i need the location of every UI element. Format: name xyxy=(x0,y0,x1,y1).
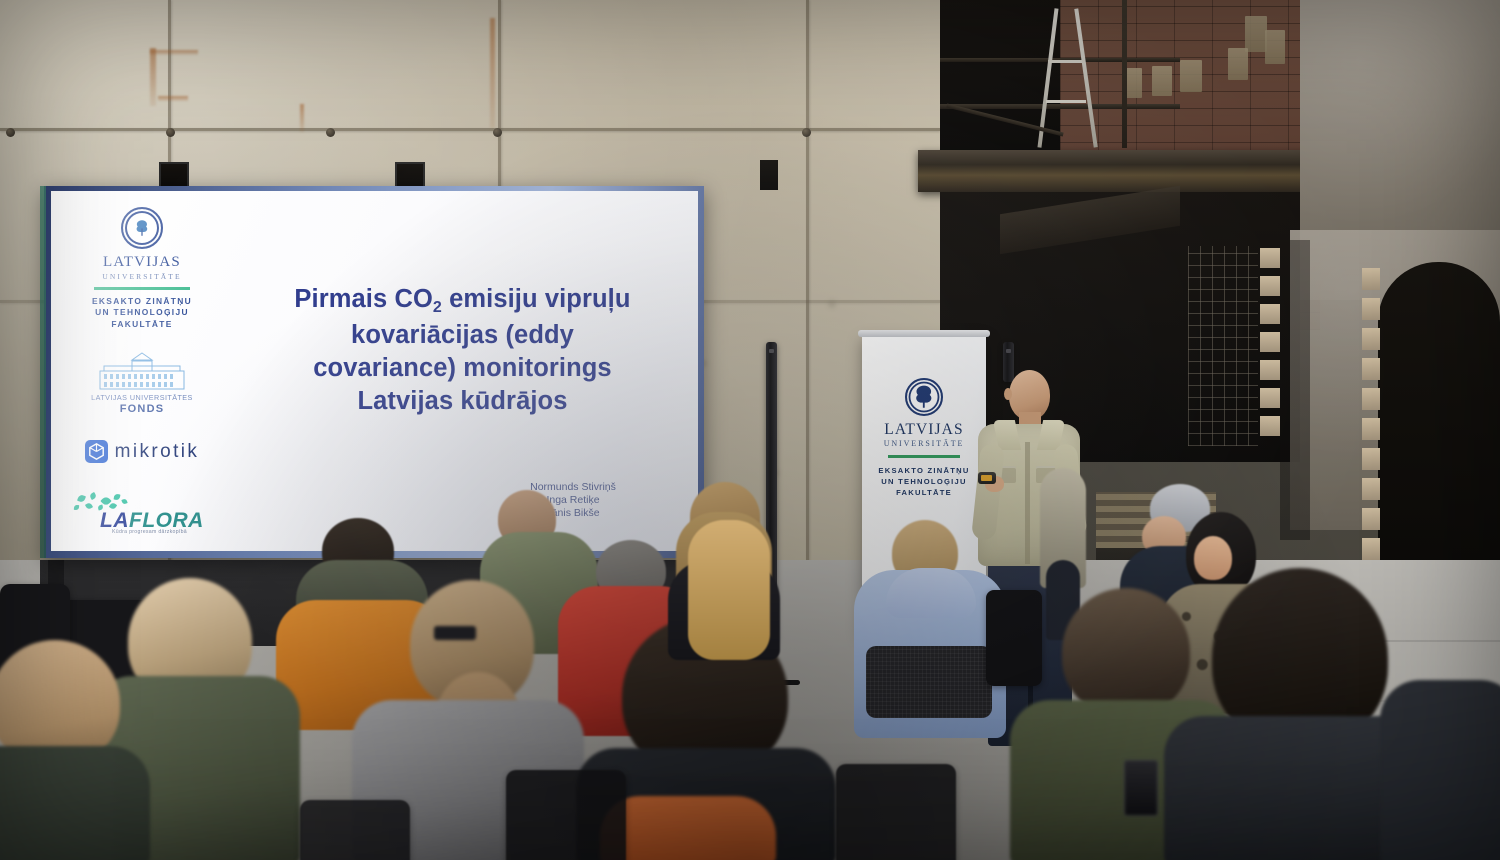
attendee-olive-phone-head xyxy=(1062,588,1190,716)
wall-seam xyxy=(0,128,940,131)
slide-title-column: Pirmais CO2 emisiju vipruļu kovariācijas… xyxy=(233,191,698,551)
banner-faculty-line-2: UN TEHNOLOĢIJU xyxy=(881,476,966,487)
scaffold-post xyxy=(1122,0,1127,148)
leaf-icon xyxy=(77,494,86,503)
quoin-stone xyxy=(1260,360,1280,380)
presentation-clicker[interactable] xyxy=(978,472,996,484)
wall-bolt xyxy=(326,128,335,137)
leaf-icon xyxy=(85,502,93,510)
attendee-far-right-jacket xyxy=(1380,680,1500,860)
ladder-rung xyxy=(1046,100,1086,103)
oak-tree-icon xyxy=(131,217,153,239)
quoin-stone xyxy=(1260,248,1280,268)
title-part-pirmais-co: Pirmais CO xyxy=(294,285,432,313)
chair-mesh-back xyxy=(866,646,992,718)
quoin-stone xyxy=(1362,508,1380,530)
presentation-photo-scene: LATVIJAS UNIVERSITĀTE EKSAKTO ZINĀTŅU UN… xyxy=(0,0,1500,860)
chair-back xyxy=(836,764,956,860)
quoin-stone xyxy=(1362,298,1380,320)
wall-rust-stain xyxy=(150,50,198,55)
wall-blemish xyxy=(828,300,836,308)
wall-bolt xyxy=(493,128,502,137)
slide-title-line-2: kovariācijas (eddy xyxy=(243,319,682,352)
brick-patch xyxy=(1265,30,1285,64)
wall-bolt xyxy=(166,128,175,137)
chair-back xyxy=(300,800,410,860)
banner-divider xyxy=(888,455,960,458)
fonds-building-icon xyxy=(94,352,190,392)
wall-rust-stain xyxy=(158,96,188,101)
banner-university-name: LATVIJAS xyxy=(884,421,963,439)
banner-university-subtitle: UNIVERSITĀTE xyxy=(884,439,965,448)
title-part-emisiju: emisiju vipruļu xyxy=(442,285,631,313)
pa-speaker-right xyxy=(1003,342,1014,382)
fonds-line-1: LATVIJAS UNIVERSITĀTES xyxy=(91,393,193,403)
author-name: Inga Retiķe xyxy=(468,494,678,507)
mikrotik-logo: mikrotik xyxy=(85,440,200,463)
leaf-icon xyxy=(114,494,121,501)
attendee-leopard-face xyxy=(1194,536,1232,580)
quoin-stone xyxy=(1260,276,1280,296)
screen-frame: LATVIJAS UNIVERSITĀTE EKSAKTO ZINĀTŅU UN… xyxy=(44,186,704,558)
quoin-stone xyxy=(1260,332,1280,352)
slide-logo-column: LATVIJAS UNIVERSITĀTE EKSAKTO ZINĀTŅU UN… xyxy=(51,191,233,551)
attendee-hairband xyxy=(434,626,476,640)
attendee-blonde-long-hair-front xyxy=(688,520,770,660)
brick-patch xyxy=(1152,66,1172,96)
slide-title-line-4: Latvijas kūdrājos xyxy=(243,385,682,418)
university-name: LATVIJAS xyxy=(103,254,181,271)
wall-rust-stain xyxy=(300,104,304,132)
attendee-far-left-jacket xyxy=(0,746,150,860)
attendee-phone[interactable] xyxy=(1124,760,1158,816)
quoin-stone xyxy=(1362,268,1380,290)
fonds-line-2: FONDS xyxy=(120,404,165,414)
faculty-line-3: FAKULTĀTE xyxy=(111,319,172,331)
leaf-icon xyxy=(89,492,97,500)
slide-title-line-3: covariance) monitorings xyxy=(243,352,682,385)
logo-divider xyxy=(94,287,190,290)
arched-doorway xyxy=(1378,262,1500,602)
attendee-front-orange-collar xyxy=(600,796,776,860)
brick-patch xyxy=(1180,60,1202,92)
reinforcement-mesh xyxy=(1188,246,1258,446)
mikrotik-wordmark: mikrotik xyxy=(115,441,200,463)
slide-title: Pirmais CO2 emisiju vipruļu kovariācijas… xyxy=(243,283,682,418)
quoin-stone xyxy=(1260,388,1280,408)
chair-back xyxy=(506,770,626,860)
quoin-stone xyxy=(1362,538,1380,560)
quoin-stone xyxy=(1260,416,1280,436)
author-name: Normunds Stivriņš xyxy=(468,481,678,494)
wall-bracket xyxy=(760,160,778,190)
attendee-lightblue-hood xyxy=(886,568,976,618)
quoin-stone xyxy=(1362,478,1380,500)
quoin-stone xyxy=(1362,448,1380,470)
quoin-stone xyxy=(1362,328,1380,350)
banner-faculty-line-1: EKSAKTO ZINĀTŅU xyxy=(878,465,969,476)
laflora-logo: LAFLORA Kūdra progresam dārzkopībā xyxy=(72,493,212,539)
presenter-jacket-placket xyxy=(1025,442,1030,564)
wall-bolt xyxy=(802,128,811,137)
classical-building-icon xyxy=(94,352,190,392)
faculty-line-1: EKSAKTO ZINĀTŅU xyxy=(92,296,192,308)
laflora-tagline: Kūdra progresam dārzkopībā xyxy=(112,529,187,535)
mikrotik-cube-icon xyxy=(85,440,108,463)
wall-bolt xyxy=(6,128,15,137)
leaf-icon xyxy=(74,505,79,510)
rollup-content: LATVIJAS UNIVERSITĀTE EKSAKTO ZINĀTŅU UN… xyxy=(862,378,986,498)
banner-faculty-line-3: FAKULTĀTE xyxy=(896,487,952,498)
quoin-stone xyxy=(1260,304,1280,324)
projection-screen[interactable]: LATVIJAS UNIVERSITĀTE EKSAKTO ZINĀTŅU UN… xyxy=(44,186,704,558)
quoin-stone xyxy=(1362,388,1380,410)
scaffold-rail xyxy=(940,104,1180,109)
ladder-rung xyxy=(1048,60,1082,63)
presenter-ear xyxy=(1004,388,1012,400)
wall-rust-stain xyxy=(490,18,495,128)
chair-back xyxy=(986,590,1042,686)
wall-rust-stain xyxy=(150,48,156,106)
wall-shadow xyxy=(1280,240,1310,540)
leaf-icon xyxy=(121,498,127,504)
fonds-word-fonds: FONDS xyxy=(120,404,165,414)
rollup-top-rail xyxy=(858,330,990,337)
quoin-stone xyxy=(1362,418,1380,440)
oak-tree-icon xyxy=(907,380,941,414)
presentation-slide: LATVIJAS UNIVERSITĀTE EKSAKTO ZINĀTŅU UN… xyxy=(51,191,698,551)
university-subtitle: UNIVERSITĀTE xyxy=(102,272,181,281)
brick-patch xyxy=(1228,48,1248,80)
brick-patch xyxy=(1245,16,1267,52)
title-subscript-2: 2 xyxy=(433,299,442,316)
quoin-stone xyxy=(1362,358,1380,380)
cube-icon xyxy=(85,440,108,463)
university-crest-icon xyxy=(121,207,163,249)
banner-university-crest-icon xyxy=(905,378,943,416)
steel-i-beam xyxy=(918,150,1318,192)
faculty-line-2: UN TEHNOLOĢIJU xyxy=(95,307,189,319)
slide-title-line-1: Pirmais CO2 emisiju vipruļu xyxy=(243,283,682,319)
